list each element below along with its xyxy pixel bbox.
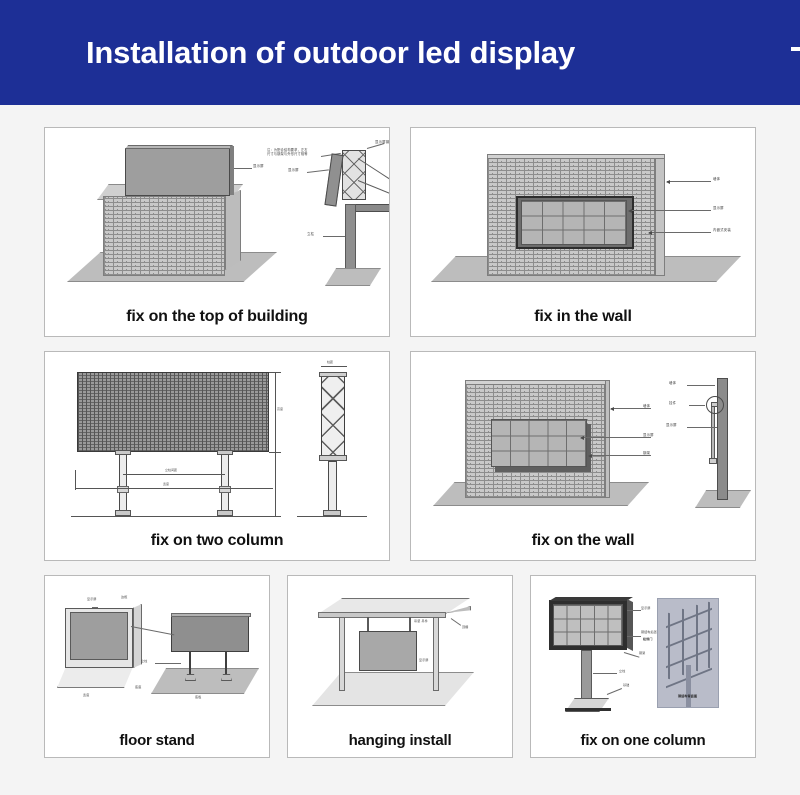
annotation-wall: 墙体 [713,177,720,181]
annotation-column: 立柱 [307,232,314,236]
figure-hanging-install: 吊装 吊件 显示屏 顶棚 [288,576,512,723]
column-leader-line [323,236,345,237]
rooftop-screen-right-edge [230,146,234,195]
panel-grid: 显示屏 注：为配合结构要求，左右尺寸与钢架与外形尺寸相等 显示屏钢架 显示屏 钢… [0,105,800,795]
annotation-canopy: 顶棚 [462,626,468,630]
annotation-stand-base: 底座 [135,686,141,690]
steel-frame-rail-2 [666,628,712,649]
caption-fix-top-of-building: fix on the top of building [45,298,389,336]
figure-fix-on-the-wall: 墙体 显示屏 钢架 墙体 挂件 显示屏 [411,352,755,522]
header-edge-marker [791,47,800,51]
led-module-grid-3 [554,605,622,645]
annotation-display-screen: 显示屏 [253,164,264,168]
annotation-hanging-fitting: 吊装 吊件 [414,620,428,624]
dim-label-span-outer: 宽度 [163,482,169,486]
annotation-display-screen-3: 显示屏 [643,433,654,437]
annotation-hanger: 挂件 [669,401,676,405]
side-screen-leader [687,427,717,428]
screen-leader-3 [581,437,651,438]
panel-fix-top-of-building[interactable]: 显示屏 注：为配合结构要求，左右尺寸与钢架与外形尺寸相等 显示屏钢架 显示屏 钢… [44,127,390,337]
figure-fix-top-of-building: 显示屏 注：为配合结构要求，左右尺寸与钢架与外形尺寸相等 显示屏钢架 显示屏 钢… [45,128,389,298]
side-truss-cap [319,372,347,377]
wall-right-edge-2 [605,380,610,498]
canopy-roof-fascia [318,612,446,618]
page-title: Installation of outdoor led display [86,35,575,71]
panel-floor-stand[interactable]: 显示屏 边框 宽度 底座 立柱 底板 floor stand [44,575,270,758]
annotation-steel-back: 钢结构后置 [641,631,657,635]
pole-lattice-frame [342,150,366,200]
one-column-screen-top [549,597,633,601]
side-dim-label: 柱距 [327,360,333,364]
one-col-column-leader [593,673,617,674]
panel-fix-on-the-wall[interactable]: 墙体 显示屏 钢架 墙体 挂件 显示屏 fix on the wall [410,351,756,561]
hanging-floor-plane [312,672,474,706]
annotation-pole-display: 显示屏 [288,168,299,172]
annotation-hanging-display: 显示屏 [419,659,429,663]
page-header: Installation of outdoor led display [0,0,800,105]
side-dim-width [321,366,347,367]
annotation-display-side: 显示屏 [666,423,677,427]
caption-fix-two-column: fix on two column [45,522,389,560]
annotation-stand-column: 立柱 [141,660,147,664]
caption-fix-on-the-wall: fix on the wall [411,522,755,560]
annotation-stand-width: 宽度 [83,694,89,698]
dim-left-vertical [75,470,76,490]
annotation-steel-back-view: 钢结构背面图 [678,695,697,699]
annotation-one-col-base: 基础 [623,684,629,688]
floor-plane [151,668,259,694]
side-grade-line [297,516,367,517]
building-side-face [225,190,241,270]
screen-leader-line [234,168,252,169]
annotation-wall-side: 墙体 [669,381,676,385]
figure-fix-in-the-wall: 墙体 显示屏 内嵌式安装 [411,128,755,298]
stand-screen-leader [92,607,98,608]
caption-hanging-install: hanging install [288,723,512,757]
side-hanger-leader [689,405,705,406]
stand-column-leader [155,663,181,664]
support-column [345,204,356,278]
steel-frame-mast [686,665,691,707]
side-lattice-truss [321,376,345,456]
single-support-column [581,650,592,704]
annotation-steel-frame-3: 钢架 [643,451,650,455]
rooftop-led-screen [125,148,230,196]
canopy-leader [451,618,461,626]
wall-top-face [487,154,665,159]
figure-fix-one-column: 显示屏 钢结构后置 检修门 钢架 立柱 基础 钢结构背面图 [531,576,755,723]
canopy-column-right [433,617,439,691]
recessed-led-screen [521,200,627,245]
dim-span-outer [75,488,273,489]
detail-circle [706,396,724,414]
dim-span-inner [123,474,225,475]
steel-frame-post-4 [708,602,710,669]
side-bracket-bottom [709,458,717,464]
dim-label-height: 高度 [277,407,283,411]
stand-leg-right [225,652,227,676]
annotation-service-door: 检修门 [643,638,653,642]
annotation-stand-screen: 显示屏 [87,598,97,602]
hanging-led-screen [359,631,417,671]
caption-floor-stand: floor stand [45,723,269,757]
stand-screen-face [70,612,128,660]
hanger-rod-left [367,617,369,631]
column-left-cap [115,450,131,455]
figure-fix-two-column: 高度 立柱间距 宽度 柱距 [45,352,389,522]
pole-led-screen [324,153,343,206]
annotation-display-screen-2: 显示屏 [713,206,724,210]
stand-leg-left [189,652,191,676]
rooftop-screen-top-edge [125,145,233,149]
one-col-frame-leader [627,636,641,637]
steel-frame-rail-1 [666,608,712,629]
annotation-screen-frame: 显示屏钢架 [375,140,390,144]
pole-screen-leader-line [307,169,329,173]
annotation-one-col-frame: 钢架 [639,652,645,656]
annotation-one-col-column: 立柱 [619,670,625,674]
annotation-wall-3: 墙体 [643,404,650,408]
one-col-base-leader [607,688,622,695]
wall-leader-line [667,181,711,182]
panel-fix-in-the-wall[interactable]: 墙体 显示屏 内嵌式安装 fix in the wall [410,127,756,337]
annotation-stand-frame: 边框 [121,596,127,600]
side-wall-leader [687,385,715,386]
one-col-screen-leader [627,610,641,611]
screen-leader-line-2 [629,210,711,211]
one-column-screen-side [627,599,633,651]
standing-screen-top [171,613,251,617]
dim-tick-bottom [269,516,281,517]
grade-line [71,516,277,517]
billboard-screen-face [77,372,269,452]
standing-screen [171,616,249,652]
steel-structure-photo: 钢结构背面图 [657,598,719,708]
hanger-rod-right [409,617,411,631]
column-left [119,452,127,514]
panel-fix-two-column[interactable]: 高度 立柱间距 宽度 柱距 fix on two column [44,351,390,561]
single-column-foot-edge [565,708,611,711]
column-base-slab [325,268,381,286]
surface-led-screen [491,419,587,467]
column-right [221,452,229,514]
one-col-structure-leader [624,652,640,658]
frame-leader-3 [589,455,651,456]
dim-label-span-inner: 立柱间距 [165,468,177,472]
column-right-cap [217,450,233,455]
annotation-recessed-install: 内嵌式安装 [713,228,731,232]
annotation-note-text: 注：为配合结构要求，左右尺寸与钢架与外形尺寸相等 [267,148,308,156]
dim-tick-mid [269,452,281,453]
canopy-column-left [339,617,345,691]
wall-side-face [655,154,665,276]
recess-leader-line [649,232,711,233]
dim-right-vertical [275,372,276,516]
led-module-grid-2 [492,420,586,466]
caption-fix-in-the-wall: fix in the wall [411,298,755,336]
side-column [328,461,337,514]
annotation-one-col-display: 显示屏 [641,607,651,611]
panel-hanging-install[interactable]: 吊装 吊件 显示屏 顶棚 hanging install [287,575,513,758]
panel-fix-one-column[interactable]: 显示屏 钢结构后置 检修门 钢架 立柱 基础 钢结构背面图 [530,575,756,758]
led-module-grid [522,201,626,244]
caption-fix-one-column: fix on one column [531,723,755,757]
annotation-stand-baseplate: 底板 [195,696,201,700]
building-brick-wall [103,196,225,276]
dim-tick-top [269,372,281,373]
figure-floor-stand: 显示屏 边框 宽度 底座 立柱 底板 [45,576,269,723]
one-column-led-screen [553,604,623,646]
wall-top-edge-2 [465,380,607,385]
